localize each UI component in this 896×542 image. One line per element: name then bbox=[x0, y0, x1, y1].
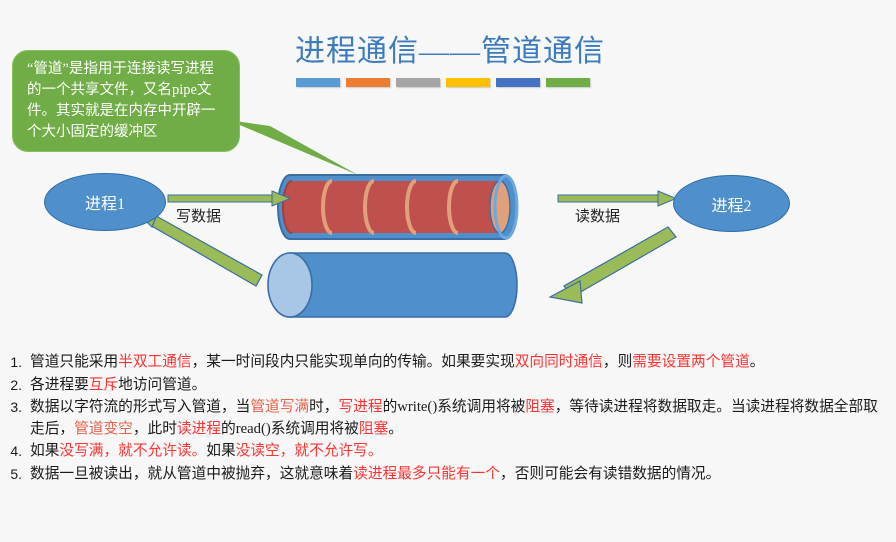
list-item: 4.如果没写满，就不允许读。如果没读空，就不允许写。 bbox=[0, 441, 896, 463]
process1-label: 进程1 bbox=[85, 190, 125, 214]
title-rule-bar-6 bbox=[546, 78, 590, 87]
list-item-text-run: 数据以字符流的形式写入管道，当 bbox=[30, 399, 250, 415]
title-rule-bar-2 bbox=[346, 78, 390, 87]
process2-to-bottom-pipe-arrow-icon bbox=[550, 227, 676, 303]
callout-tail-icon bbox=[228, 120, 358, 180]
feature-list: 1.管道只能采用半双工通信，某一时间段内只能实现单向的传输。如果要实现双向同时通… bbox=[0, 352, 896, 486]
list-item-text: 数据以字符流的形式写入管道，当管道写满时，写进程的write()系统调用将被阻塞… bbox=[30, 397, 882, 440]
process2-label: 进程2 bbox=[711, 192, 751, 216]
list-item-text-run: 没读空，就不允许写。 bbox=[236, 443, 383, 459]
list-item-text-run: 时， bbox=[309, 399, 338, 415]
title-rule-bar-5 bbox=[496, 78, 540, 87]
list-item-text-run: 阻塞 bbox=[359, 421, 388, 437]
callout-text: “管道”是指用于连接读写进程的一个共享文件，又名pipe文件。其实就是在内存中开… bbox=[27, 61, 216, 140]
list-item-text-run: 如果 bbox=[206, 443, 235, 459]
list-item-text-run: 数据一旦被读出，就从管道中被抛弃，这就意味着 bbox=[30, 466, 353, 482]
list-item-text-run: ，否则可能会有读错数据的情况。 bbox=[500, 466, 720, 482]
list-item-text-run: 的write()系统调用将被 bbox=[383, 399, 526, 415]
list-item-text-run: 阻塞 bbox=[525, 399, 554, 415]
process1-node[interactable]: 进程1 bbox=[44, 173, 166, 231]
slide-canvas: 进程通信——管道通信 “管道”是指用于连接读写进程的一个共享文件，又名pipe文… bbox=[0, 0, 896, 542]
list-item-text: 管道只能采用半双工通信，某一时间段内只能实现单向的传输。如果要实现双向同时通信，… bbox=[30, 352, 882, 374]
list-item-text-run: ，某一时间段内只能实现单向的传输。如果要实现 bbox=[192, 354, 515, 370]
list-item-text-run: 互斥 bbox=[89, 377, 118, 393]
list-item-text-run: 。 bbox=[388, 421, 403, 437]
pipe-diagram: 进程1 进程2 写数据 读数据 bbox=[0, 155, 896, 345]
list-item-text-run: 。 bbox=[750, 354, 765, 370]
list-item-text-run: ，此时 bbox=[133, 421, 177, 437]
list-item-text-run: ，则 bbox=[603, 354, 632, 370]
list-item-text: 各进程要互斥地访问管道。 bbox=[30, 375, 882, 397]
process2-node[interactable]: 进程2 bbox=[673, 175, 790, 232]
title-rule-bar-1 bbox=[296, 78, 340, 87]
list-item-text-run: 读进程 bbox=[177, 421, 221, 437]
write-arrow-icon bbox=[168, 191, 290, 206]
list-item-text-run: 没写满，就不允许读。 bbox=[59, 443, 206, 459]
list-item-number: 4. bbox=[0, 441, 30, 463]
list-item-number: 5. bbox=[0, 464, 30, 486]
list-item-number: 3. bbox=[0, 397, 30, 419]
list-item-text-run: 地访问管道。 bbox=[118, 377, 206, 393]
bottom-pipe bbox=[268, 253, 517, 317]
list-item-text-run: 各进程要 bbox=[30, 377, 89, 393]
title-rule-bar-3 bbox=[396, 78, 440, 87]
list-item-text-run: 半双工通信 bbox=[118, 354, 191, 370]
list-item: 2.各进程要互斥地访问管道。 bbox=[0, 375, 896, 397]
pipe-definition-callout: “管道”是指用于连接读写进程的一个共享文件，又名pipe文件。其实就是在内存中开… bbox=[12, 50, 240, 152]
title-rule-bar-4 bbox=[446, 78, 490, 87]
list-item-text: 如果没写满，就不允许读。如果没读空，就不允许写。 bbox=[30, 441, 882, 463]
list-item-text-run: 读进程最多只能有一个 bbox=[353, 466, 500, 482]
write-arrow-label: 写数据 bbox=[176, 205, 221, 226]
list-item-number: 2. bbox=[0, 375, 30, 397]
read-arrow-icon bbox=[558, 191, 676, 206]
list-item-text-run: 管道变空 bbox=[74, 421, 133, 437]
list-item-text-run: 双向同时通信 bbox=[515, 354, 603, 370]
top-pipe bbox=[278, 175, 517, 239]
list-item-text-run: 写进程 bbox=[338, 399, 382, 415]
list-item-text: 数据一旦被读出，就从管道中被抛弃，这就意味着读进程最多只能有一个，否则可能会有读… bbox=[30, 464, 882, 486]
list-item-text-run: 需要设置两个管道 bbox=[632, 354, 750, 370]
list-item: 3.数据以字符流的形式写入管道，当管道写满时，写进程的write()系统调用将被… bbox=[0, 397, 896, 440]
page-title: 进程通信——管道通信 bbox=[250, 26, 650, 70]
list-item-text-run: 管道只能采用 bbox=[30, 354, 118, 370]
list-item-number: 1. bbox=[0, 352, 30, 374]
list-item-text-run: 管道写满 bbox=[250, 399, 309, 415]
list-item: 5.数据一旦被读出，就从管道中被抛弃，这就意味着读进程最多只能有一个，否则可能会… bbox=[0, 464, 896, 486]
title-rule-bars bbox=[296, 78, 590, 87]
list-item: 1.管道只能采用半双工通信，某一时间段内只能实现单向的传输。如果要实现双向同时通… bbox=[0, 352, 896, 374]
read-arrow-label: 读数据 bbox=[575, 205, 620, 226]
list-item-text-run: 的read()系统调用将被 bbox=[221, 421, 359, 437]
list-item-text-run: 如果 bbox=[30, 443, 59, 459]
